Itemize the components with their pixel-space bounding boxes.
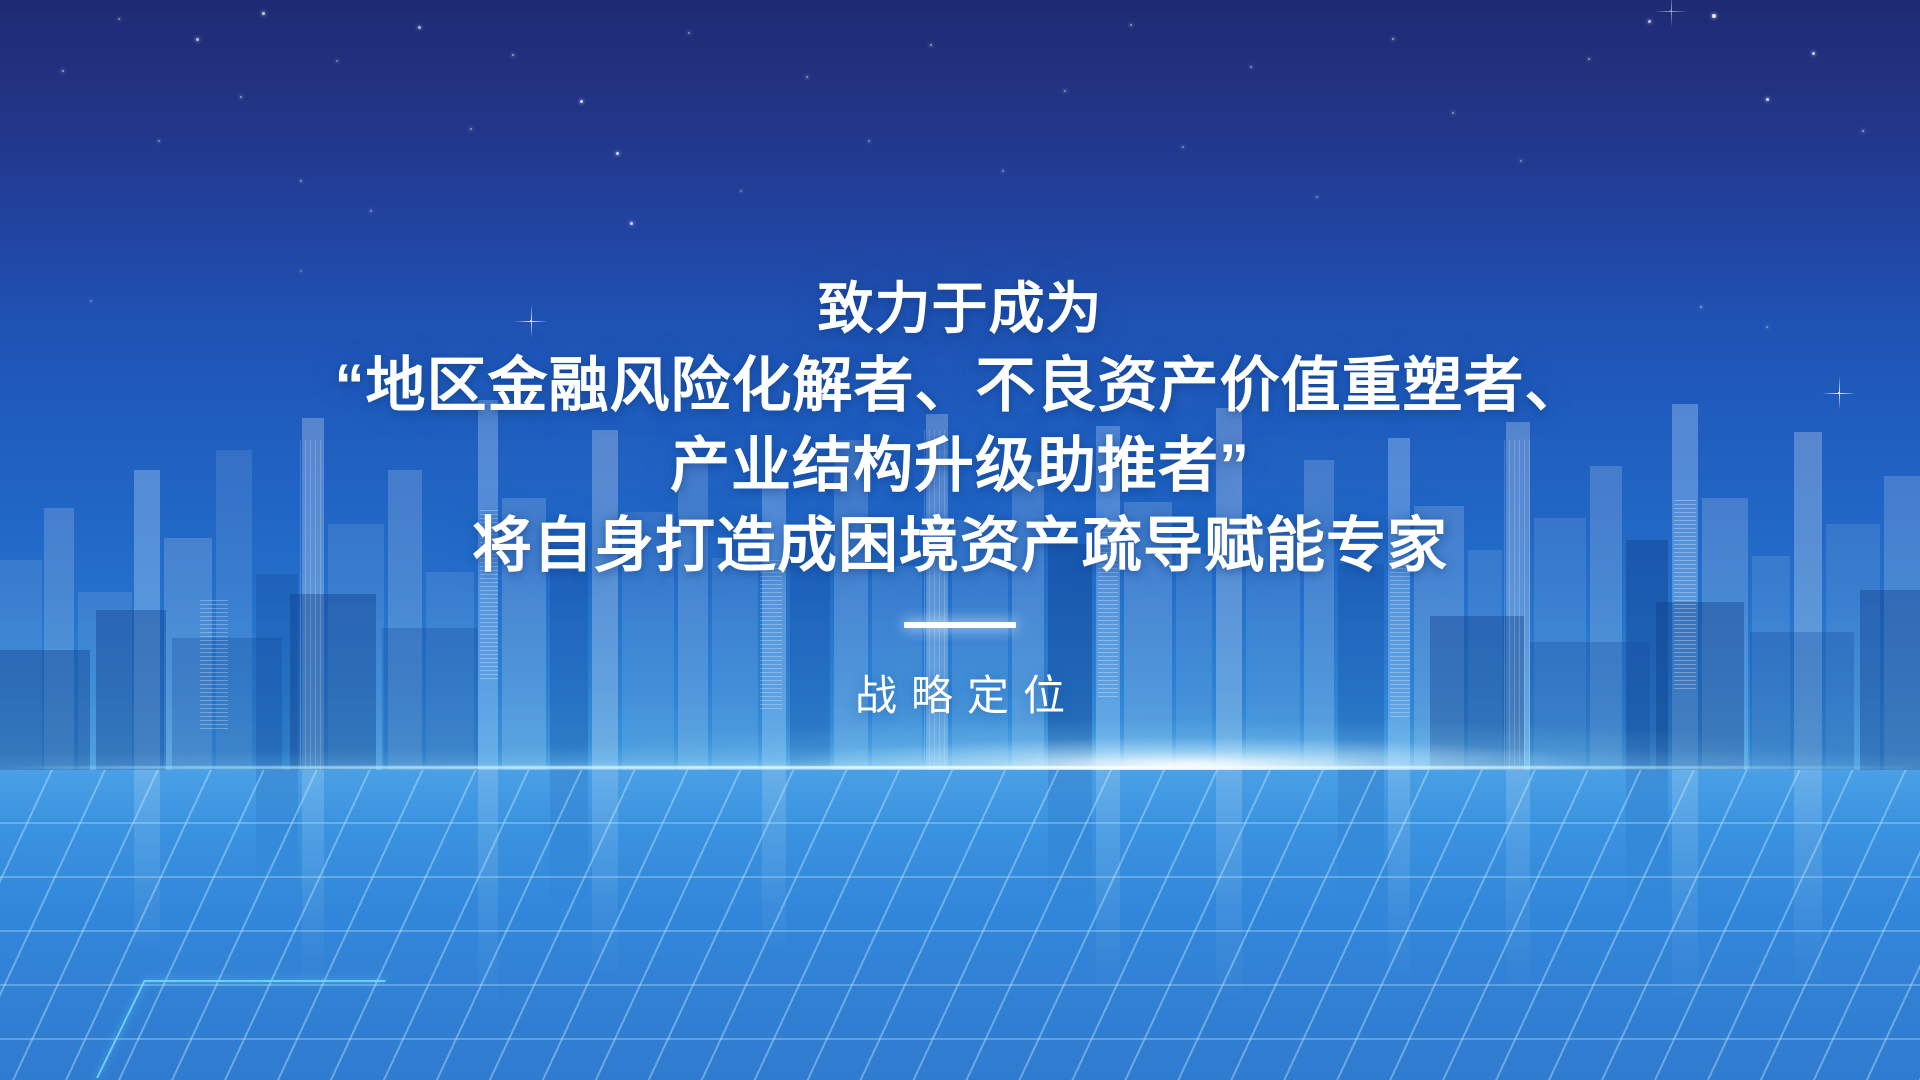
headline: 致力于成为 “地区金融风险化解者、不良资产价值重塑者、 产业结构升级助推者” 将… <box>335 272 1586 586</box>
subtitle: 战略定位 <box>841 662 1079 723</box>
headline-line-1: 致力于成为 <box>335 272 1586 346</box>
presentation-slide: 致力于成为 “地区金融风险化解者、不良资产价值重塑者、 产业结构升级助推者” 将… <box>0 0 1920 1080</box>
grid-accent-line <box>96 980 386 1078</box>
headline-line-4: 将自身打造成困境资产疏导赋能专家 <box>335 506 1586 586</box>
horizon-line <box>0 766 1920 769</box>
headline-line-2: “地区金融风险化解者、不良资产价值重塑者、 <box>335 346 1586 426</box>
title-divider <box>904 622 1016 628</box>
headline-line-3: 产业结构升级助推者” <box>335 426 1586 506</box>
